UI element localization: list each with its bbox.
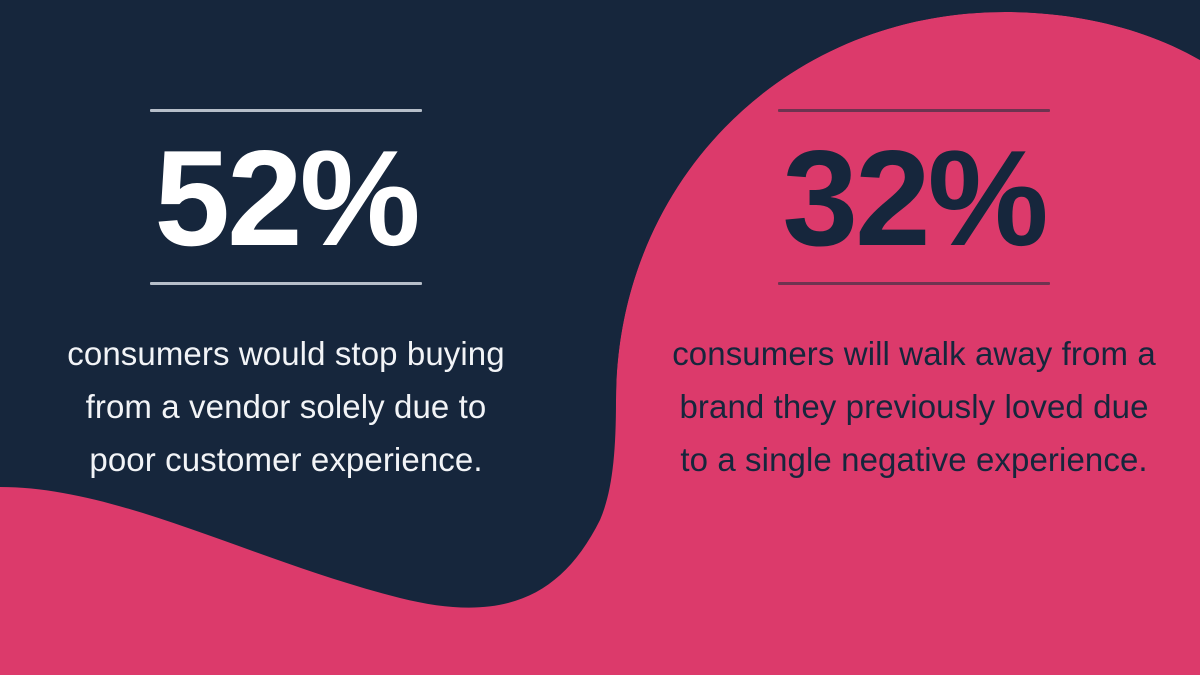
- percent-value-left: 52%: [154, 112, 417, 282]
- caption-left-line-3: poor customer experience.: [21, 433, 551, 486]
- infographic-canvas: 52% consumers would stop buying from a v…: [0, 0, 1200, 675]
- caption-left-line-2: from a vendor solely due to: [21, 380, 551, 433]
- caption-right-line-3: to a single negative experience.: [649, 433, 1179, 486]
- caption-right: consumers will walk away from a brand th…: [649, 285, 1179, 486]
- stat-panel-right: 32% consumers will walk away from a bran…: [628, 0, 1200, 675]
- caption-right-line-2: brand they previously loved due: [649, 380, 1179, 433]
- caption-right-line-1: consumers will walk away from a: [649, 327, 1179, 380]
- caption-left-line-1: consumers would stop buying: [21, 327, 551, 380]
- caption-left: consumers would stop buying from a vendo…: [21, 285, 551, 486]
- percent-value-right: 32%: [782, 112, 1045, 282]
- stat-panel-left: 52% consumers would stop buying from a v…: [0, 0, 572, 675]
